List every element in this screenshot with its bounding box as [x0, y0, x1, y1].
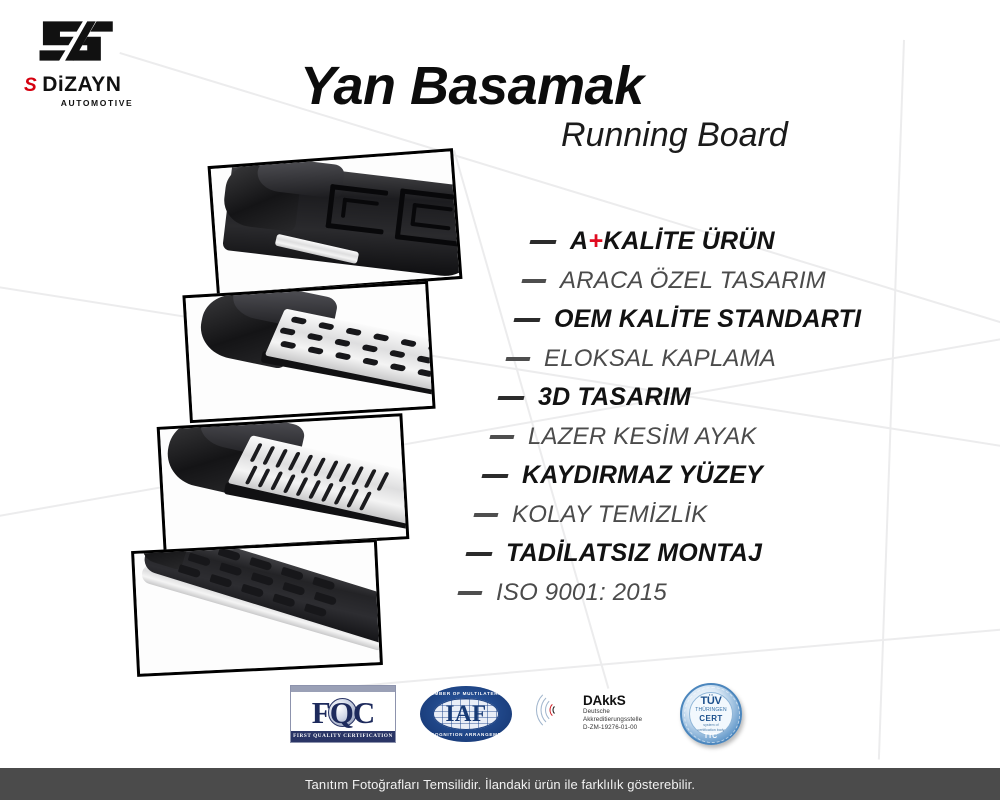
- background-line: [300, 619, 1000, 692]
- feature-item: OEM KALİTE STANDARTI: [430, 300, 930, 339]
- iaf-letters: IAF: [445, 701, 486, 727]
- feature-item: ELOKSAL KAPLAMA: [430, 339, 930, 378]
- globe-icon: IAF: [433, 698, 499, 730]
- product-photo-3: [157, 413, 410, 553]
- feature-text: ISO 9001: 2015: [496, 579, 667, 607]
- bullet-dash-icon: [466, 552, 493, 556]
- tuv-certification-badge: TÜV THÜRINGEN CERT system of certificati…: [680, 683, 742, 745]
- logo-brand-name: DiZAYN: [42, 73, 121, 97]
- fqc-banner-text: FIRST QUALITY CERTIFICATION: [291, 731, 395, 742]
- fqc-top-bar: [291, 686, 395, 692]
- product-photo-4: [131, 539, 383, 677]
- feature-item: LAZER KESİM AYAK: [430, 417, 930, 456]
- advertisement-canvas: S DiZAYN AUTOMOTIVE Yan Basamak Running …: [0, 0, 1000, 800]
- dakks-line-3: D-ZM-19276-01-00: [583, 724, 642, 732]
- bullet-dash-icon: [482, 474, 509, 478]
- feature-accent: +: [588, 227, 603, 255]
- iaf-bottom-text: RECOGNITION ARRANGEMENT: [420, 732, 512, 737]
- brand-logo: S DiZAYN AUTOMOTIVE: [22, 18, 152, 108]
- feature-text: ARACA ÖZEL TASARIM: [560, 267, 826, 295]
- logo-subtitle: AUTOMOTIVE: [42, 98, 152, 108]
- footer-bar: Tanıtım Fotoğrafları Temsilidir. İlandak…: [0, 768, 1000, 800]
- product-photo-1: [208, 148, 463, 297]
- logo-s-letter: S: [24, 75, 36, 97]
- page-subtitle: Running Board: [561, 116, 788, 155]
- feature-item: ARACA ÖZEL TASARIM: [430, 261, 930, 300]
- bullet-dash-icon: [474, 513, 499, 517]
- bullet-dash-icon: [458, 591, 483, 595]
- bullet-dash-icon: [522, 279, 547, 283]
- dakks-certification-badge: DAkkS Deutsche Akkreditierungsstelle D-Z…: [536, 688, 656, 740]
- feature-item: A+KALİTE ÜRÜN: [430, 222, 930, 261]
- bullet-dash-icon: [506, 357, 531, 361]
- iaf-top-text: MEMBER OF MULTILATERAL: [420, 691, 512, 696]
- feature-list: A+KALİTE ÜRÜN ARACA ÖZEL TASARIM OEM KAL…: [430, 222, 930, 612]
- bullet-dash-icon: [490, 435, 515, 439]
- s-monogram-icon: [34, 18, 120, 64]
- product-photo-2: [182, 281, 435, 423]
- dakks-line-2: Akkreditierungsstelle: [583, 716, 642, 724]
- page-title: Yan Basamak: [300, 55, 644, 117]
- feature-text: LAZER KESİM AYAK: [528, 423, 757, 451]
- iaf-certification-badge: MEMBER OF MULTILATERAL IAF RECOGNITION A…: [420, 686, 512, 742]
- feature-text: ELOKSAL KAPLAMA: [544, 345, 776, 373]
- fqc-certification-badge: FQC FIRST QUALITY CERTIFICATION: [290, 685, 396, 743]
- feature-text: KAYDIRMAZ YÜZEY: [522, 461, 763, 490]
- bullet-dash-icon: [530, 240, 557, 244]
- dakks-name: DAkkS: [583, 694, 642, 708]
- bullet-dash-icon: [498, 396, 525, 400]
- fqc-letters: FQC: [291, 696, 395, 730]
- tuv-tic-label: TIC: [682, 733, 740, 740]
- feature-item: KAYDIRMAZ YÜZEY: [430, 456, 930, 495]
- feature-text: TADİLATSIZ MONTAJ: [506, 539, 762, 568]
- disclaimer-text: Tanıtım Fotoğrafları Temsilidir. İlandak…: [305, 777, 695, 792]
- certification-badges: FQC FIRST QUALITY CERTIFICATION MEMBER O…: [290, 683, 742, 745]
- sound-arcs-icon: [536, 688, 580, 732]
- feature-item: 3D TASARIM: [430, 378, 930, 417]
- feature-item: TADİLATSIZ MONTAJ: [430, 534, 930, 573]
- feature-text: OEM KALİTE STANDARTI: [554, 305, 861, 334]
- feature-text: KOLAY TEMİZLİK: [512, 501, 707, 529]
- feature-text: A: [570, 227, 588, 255]
- feature-item: KOLAY TEMİZLİK: [430, 495, 930, 534]
- feature-text-cont: KALİTE ÜRÜN: [603, 227, 775, 255]
- feature-item: ISO 9001: 2015: [430, 573, 930, 612]
- bullet-dash-icon: [514, 318, 541, 322]
- feature-text: 3D TASARIM: [538, 383, 691, 412]
- dakks-line-1: Deutsche: [583, 708, 642, 716]
